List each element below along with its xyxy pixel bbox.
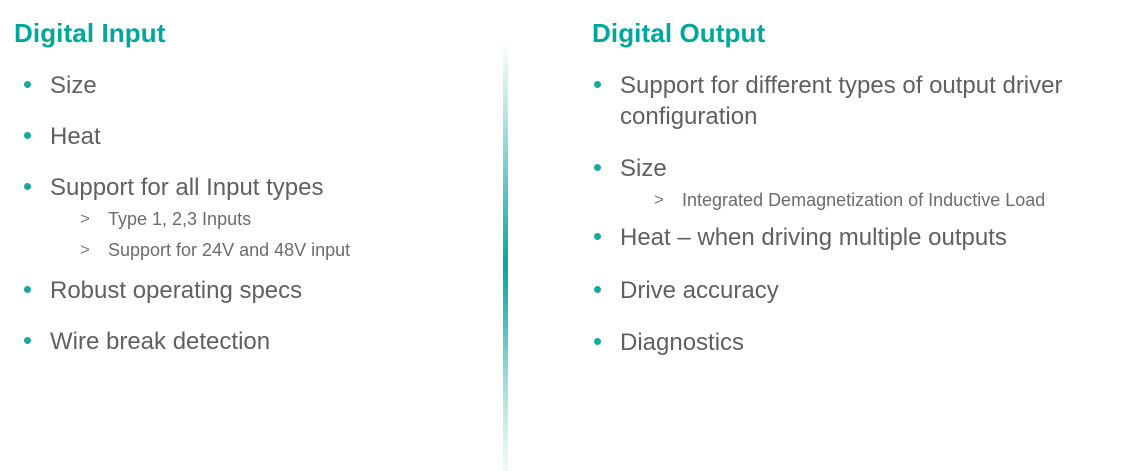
bullet-label: Drive accuracy: [620, 275, 1110, 306]
bullet-label: Size: [620, 153, 1110, 184]
bullet-list-digital-output: Support for different types of output dr…: [586, 70, 1110, 379]
bullet-dot-icon: [24, 286, 31, 293]
bullet-dot-icon: [24, 81, 31, 88]
bullet-dot-icon: [594, 81, 601, 88]
column-title-digital-output: Digital Output: [592, 19, 765, 49]
bullet-dot-icon: [594, 286, 601, 293]
chevron-right-icon: >: [80, 208, 90, 230]
bullet-label: Support for all Input types: [50, 172, 486, 203]
chevron-right-icon: >: [80, 239, 90, 261]
bullet-label: Heat – when driving multiple outputs: [620, 222, 1110, 253]
bullet-dot-icon: [24, 183, 31, 190]
vertical-gradient-divider: [503, 40, 508, 471]
bullet-dot-icon: [24, 132, 31, 139]
bullet-label: Heat: [50, 121, 486, 152]
list-item[interactable]: Wire break detection: [16, 326, 486, 357]
column-title-digital-input: Digital Input: [14, 19, 166, 49]
sub-bullet-list: > Integrated Demagnetization of Inductiv…: [648, 189, 1110, 213]
chevron-right-icon: >: [654, 189, 664, 211]
sub-bullet-list: > Type 1, 2,3 Inputs > Support for 24V a…: [74, 208, 486, 264]
bullet-list-digital-input: Size Heat Support for all Input types > …: [16, 70, 486, 377]
list-item[interactable]: Diagnostics: [586, 327, 1110, 358]
list-item[interactable]: Drive accuracy: [586, 275, 1110, 306]
list-item[interactable]: Size > Integrated Demagnetization of Ind…: [586, 153, 1110, 212]
slide-canvas: Digital Input Size Heat Support for all …: [0, 0, 1124, 471]
bullet-dot-icon: [24, 337, 31, 344]
bullet-dot-icon: [594, 233, 601, 240]
bullet-label: Support for different types of output dr…: [620, 70, 1110, 132]
sub-list-item[interactable]: > Support for 24V and 48V input: [74, 239, 486, 263]
bullet-label: Diagnostics: [620, 327, 1110, 358]
list-item[interactable]: Heat – when driving multiple outputs: [586, 222, 1110, 253]
list-item[interactable]: Support for all Input types > Type 1, 2,…: [16, 172, 486, 263]
sub-bullet-label: Integrated Demagnetization of Inductive …: [682, 189, 1110, 213]
bullet-label: Wire break detection: [50, 326, 486, 357]
bullet-dot-icon: [594, 164, 601, 171]
sub-list-item[interactable]: > Integrated Demagnetization of Inductiv…: [648, 189, 1110, 213]
sub-bullet-label: Support for 24V and 48V input: [108, 239, 486, 263]
list-item[interactable]: Robust operating specs: [16, 275, 486, 306]
sub-bullet-label: Type 1, 2,3 Inputs: [108, 208, 486, 232]
list-item[interactable]: Heat: [16, 121, 486, 152]
bullet-label: Size: [50, 70, 486, 101]
list-item[interactable]: Support for different types of output dr…: [586, 70, 1110, 132]
list-item[interactable]: Size: [16, 70, 486, 101]
bullet-dot-icon: [594, 338, 601, 345]
bullet-label: Robust operating specs: [50, 275, 486, 306]
sub-list-item[interactable]: > Type 1, 2,3 Inputs: [74, 208, 486, 232]
